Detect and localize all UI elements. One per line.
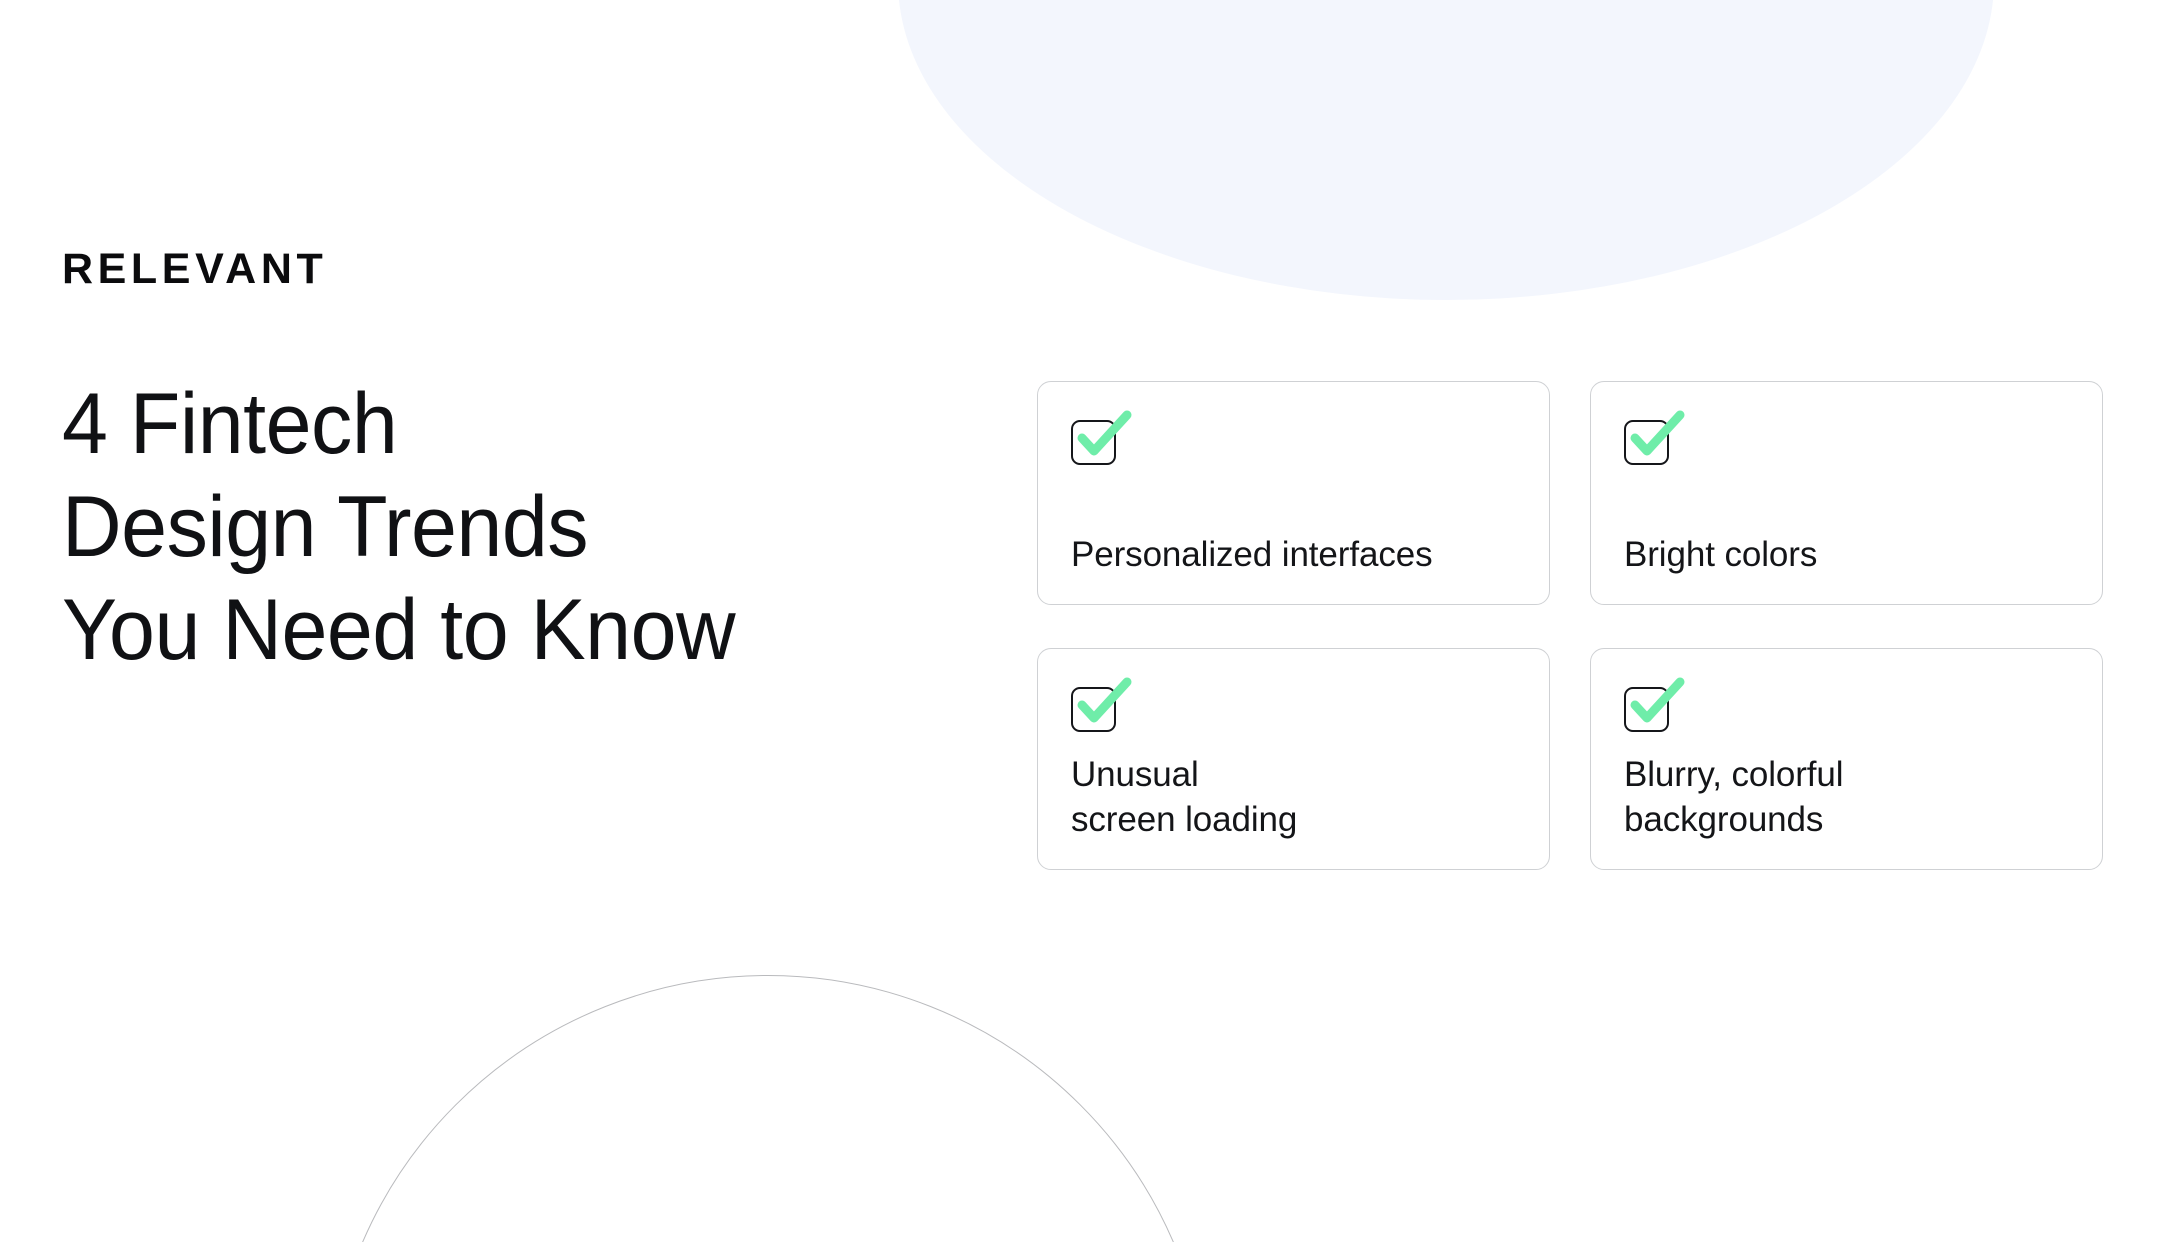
page-title: 4 Fintech Design Trends You Need to Know — [62, 373, 926, 683]
headline-line-3: You Need to Know — [62, 579, 926, 682]
checkmark-icon — [1069, 669, 1141, 741]
trend-card-label-line-1: Unusual — [1071, 753, 1516, 798]
headline-line-1: 4 Fintech — [62, 373, 926, 476]
trend-card-label-line-1: Personalized interfaces — [1071, 533, 1516, 578]
checkbox-blurry-colorful-backgrounds[interactable] — [1624, 683, 1672, 731]
checkbox-personalized-interfaces[interactable] — [1071, 416, 1119, 464]
headline-line-2: Design Trends — [62, 476, 926, 579]
trend-card-grid: Personalized interfaces Bright colors — [1037, 381, 2103, 870]
trend-card-label: Unusual screen loading — [1071, 753, 1516, 869]
left-column: RELEVANT 4 Fintech Design Trends You Nee… — [62, 248, 962, 683]
trend-card-blurry-colorful-backgrounds[interactable]: Blurry, colorful backgrounds — [1590, 648, 2103, 870]
trend-card-bright-colors[interactable]: Bright colors — [1590, 381, 2103, 605]
trend-card-label-line-2: backgrounds — [1624, 798, 2069, 843]
trend-card-unusual-screen-loading[interactable]: Unusual screen loading — [1037, 648, 1550, 870]
checkbox-unusual-screen-loading[interactable] — [1071, 683, 1119, 731]
checkmark-icon — [1622, 402, 1694, 474]
trend-card-personalized-interfaces[interactable]: Personalized interfaces — [1037, 381, 1550, 605]
trend-card-label: Bright colors — [1624, 533, 2069, 604]
trend-card-label: Personalized interfaces — [1071, 533, 1516, 604]
trend-card-label-line-1: Blurry, colorful — [1624, 753, 2069, 798]
checkmark-icon — [1622, 669, 1694, 741]
trend-card-label-line-1: Bright colors — [1624, 533, 2069, 578]
trend-card-label-line-2: screen loading — [1071, 798, 1516, 843]
brand-wordmark: RELEVANT — [62, 248, 962, 291]
checkbox-bright-colors[interactable] — [1624, 416, 1672, 464]
checkmark-icon — [1069, 402, 1141, 474]
trend-card-label: Blurry, colorful backgrounds — [1624, 753, 2069, 869]
slide: RELEVANT 4 Fintech Design Trends You Nee… — [0, 0, 2160, 1242]
